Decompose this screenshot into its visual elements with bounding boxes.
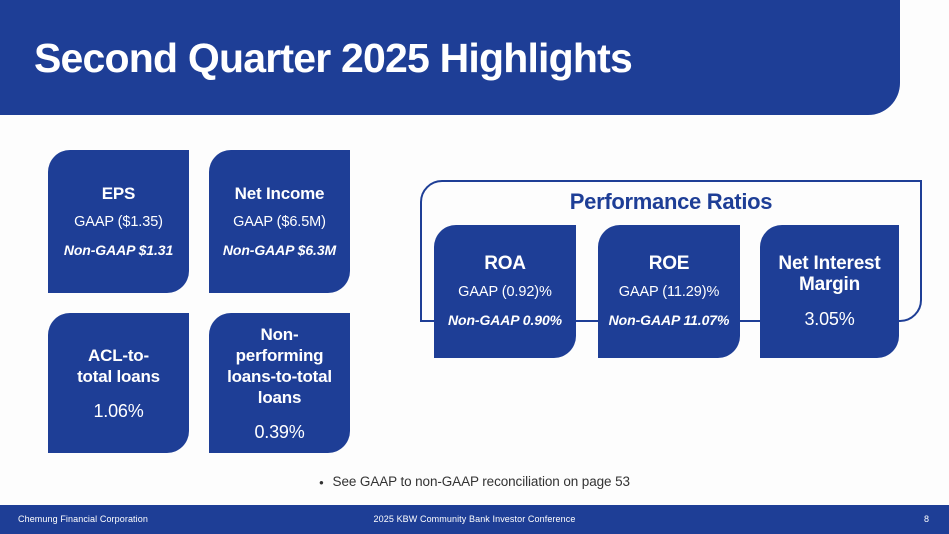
metric-card-nim-value: 3.05% <box>804 308 854 330</box>
metric-card-roe-non-gaap: Non-GAAP 11.07% <box>609 311 730 330</box>
metric-card-npl-value: 0.39% <box>254 421 304 443</box>
metric-card-roe-gaap: GAAP (11.29)% <box>619 283 720 302</box>
bullet-icon: • <box>319 475 323 490</box>
metric-card-net-income-gaap: GAAP ($6.5M) <box>233 213 326 232</box>
header-banner: Second Quarter 2025 Highlights <box>0 0 900 115</box>
metric-card-eps: EPS GAAP ($1.35) Non-GAAP $1.31 <box>48 150 189 293</box>
metric-card-roe-title: ROE <box>649 253 690 274</box>
metric-card-roa-non-gaap: Non-GAAP 0.90% <box>448 311 562 330</box>
metric-card-net-income-non-gaap: Non-GAAP $6.3M <box>223 241 336 260</box>
metric-card-roa-gaap: GAAP (0.92)% <box>458 283 552 302</box>
metric-card-net-interest-margin: Net Interest Margin 3.05% <box>760 225 899 358</box>
metric-card-non-performing-loans: Non-performing loans-to-total loans 0.39… <box>209 313 350 453</box>
metric-card-roe: ROE GAAP (11.29)% Non-GAAP 11.07% <box>598 225 740 358</box>
metric-card-nim-title: Net Interest Margin <box>768 253 891 295</box>
metric-card-eps-gaap: GAAP ($1.35) <box>74 213 163 232</box>
metric-card-roa-title: ROA <box>484 253 526 274</box>
metric-card-acl-title: ACL-to- total loans <box>77 345 160 387</box>
performance-ratios-title: Performance Ratios <box>420 189 922 215</box>
footer-page-number: 8 <box>924 514 929 524</box>
metric-card-npl-title: Non-performing loans-to-total loans <box>217 324 342 408</box>
footnote-text: See GAAP to non-GAAP reconciliation on p… <box>333 474 630 489</box>
footnote: •See GAAP to non-GAAP reconciliation on … <box>0 474 949 490</box>
footer-event-name: 2025 KBW Community Bank Investor Confere… <box>0 514 949 524</box>
metric-card-net-income: Net Income GAAP ($6.5M) Non-GAAP $6.3M <box>209 150 350 293</box>
metric-card-eps-non-gaap: Non-GAAP $1.31 <box>64 241 173 260</box>
metric-card-net-income-title: Net Income <box>235 183 325 204</box>
metric-card-acl-value: 1.06% <box>93 400 143 422</box>
footer-bar: Chemung Financial Corporation 2025 KBW C… <box>0 505 949 534</box>
metric-card-acl-to-total-loans: ACL-to- total loans 1.06% <box>48 313 189 453</box>
metric-card-roa: ROA GAAP (0.92)% Non-GAAP 0.90% <box>434 225 576 358</box>
page-title: Second Quarter 2025 Highlights <box>34 33 632 83</box>
metric-card-eps-title: EPS <box>102 183 135 204</box>
